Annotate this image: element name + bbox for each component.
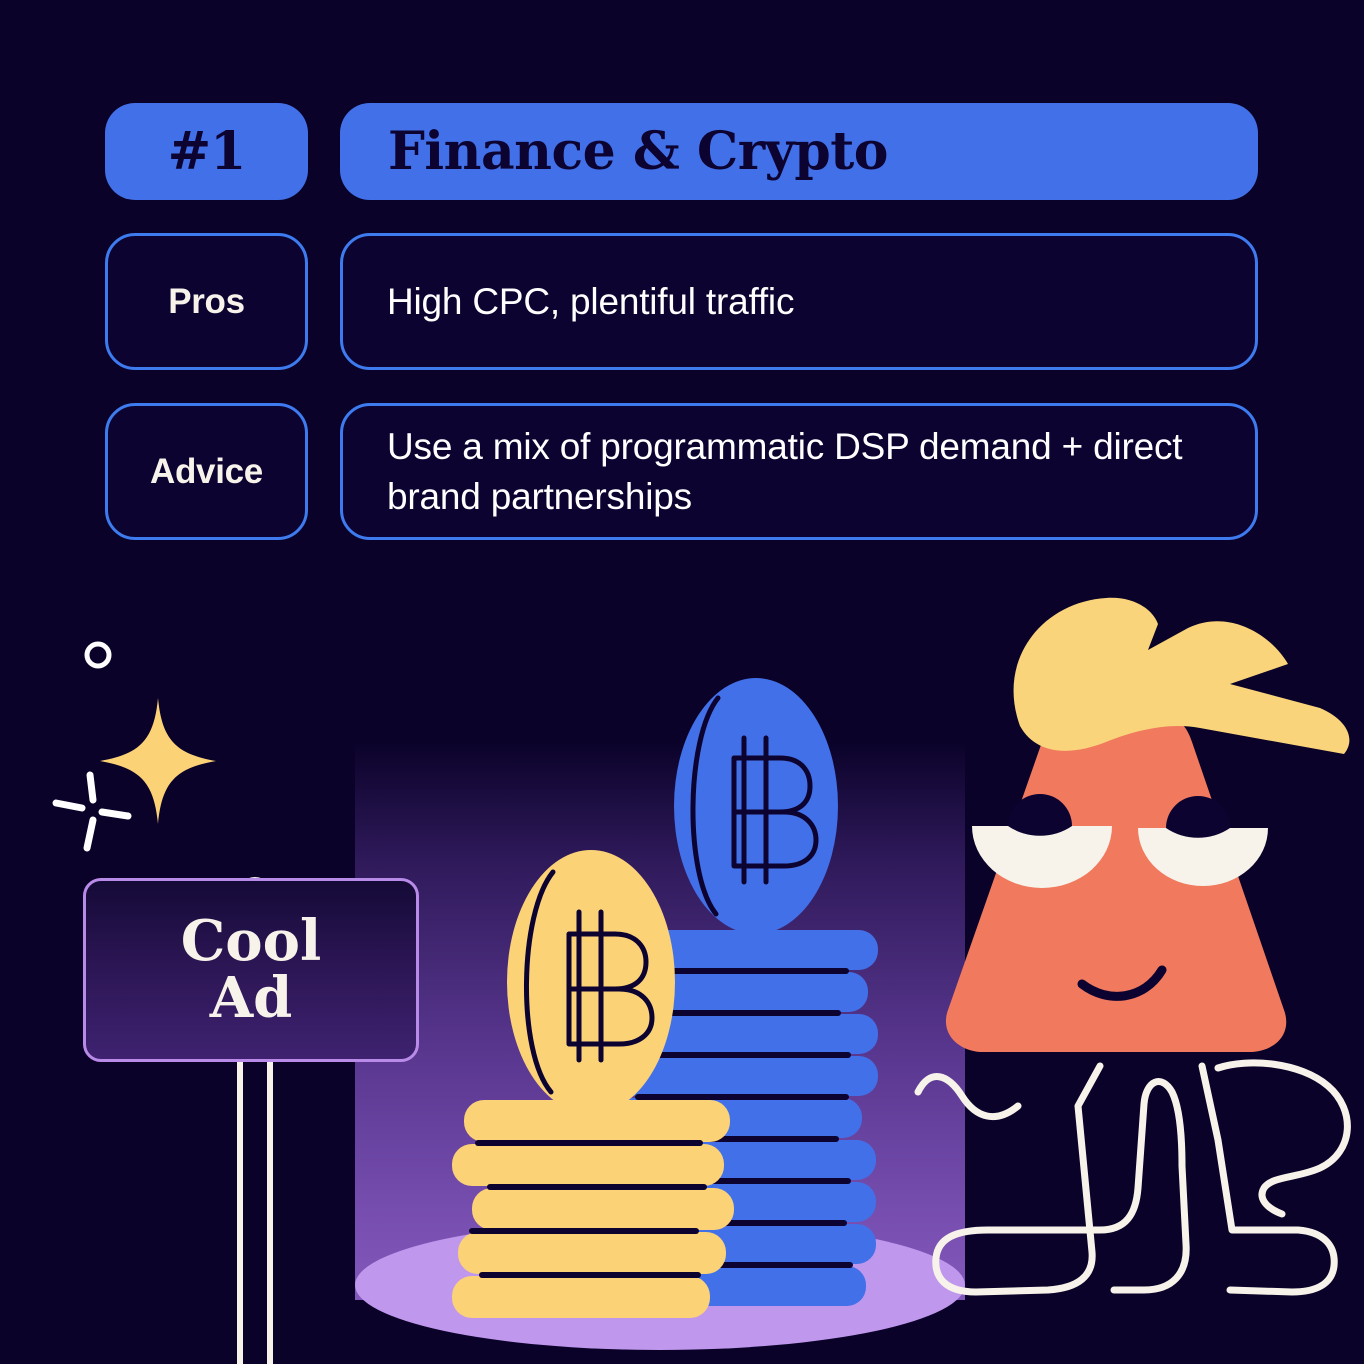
row-label-pros[interactable]: Pros xyxy=(105,233,308,370)
cool-ad-sign[interactable]: Cool Ad xyxy=(83,878,419,1062)
sparkle-group xyxy=(40,620,270,860)
poster-canvas: #1 Finance & Crypto Pros High CPC, plent… xyxy=(0,0,1364,1364)
row-value-advice[interactable]: Use a mix of programmatic DSP demand + d… xyxy=(340,403,1258,540)
sparkle-cross-icon xyxy=(56,775,128,848)
character xyxy=(900,580,1364,1330)
yellow-coin-stack xyxy=(452,1100,742,1330)
standing-yellow-coin xyxy=(505,848,677,1116)
row-value-text: Use a mix of programmatic DSP demand + d… xyxy=(387,422,1225,520)
character-limbs xyxy=(918,1063,1347,1292)
sign-line-2: Ad xyxy=(210,970,293,1027)
row-label-text: Advice xyxy=(150,452,263,492)
row-label-advice[interactable]: Advice xyxy=(105,403,308,540)
rank-label: #1 xyxy=(168,121,246,182)
standing-blue-coin xyxy=(672,676,840,936)
page-title: Finance & Crypto xyxy=(388,121,888,182)
circle-outline-icon xyxy=(87,644,109,666)
category-title-banner[interactable]: Finance & Crypto xyxy=(340,103,1258,200)
row-value-pros[interactable]: High CPC, plentiful traffic xyxy=(340,233,1258,370)
yellow-coin-bars xyxy=(452,1100,734,1318)
row-value-text: High CPC, plentiful traffic xyxy=(387,277,794,326)
rank-chip[interactable]: #1 xyxy=(105,103,308,200)
row-label-text: Pros xyxy=(168,282,245,322)
sign-line-1: Cool xyxy=(181,913,322,970)
illustration: Cool Ad xyxy=(0,560,1364,1364)
character-body xyxy=(946,720,1286,1052)
four-point-star-icon xyxy=(100,698,216,824)
